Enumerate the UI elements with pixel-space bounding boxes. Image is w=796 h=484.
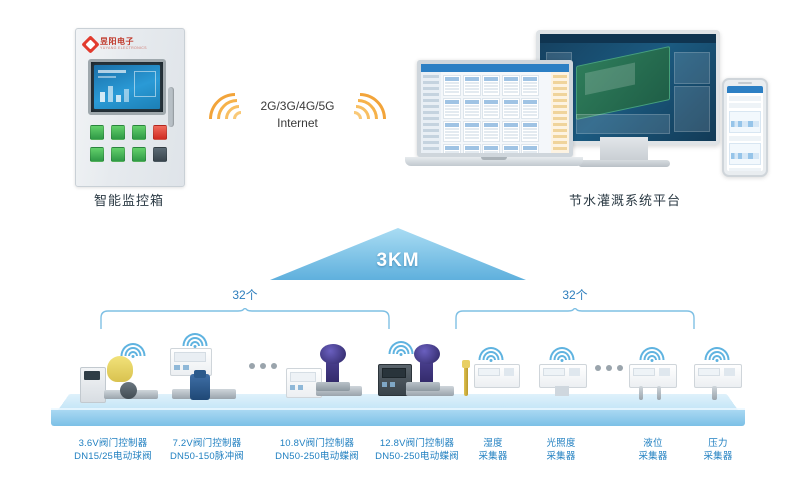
- controller-button: [390, 382, 395, 387]
- sensor-probe: [657, 386, 661, 400]
- caption-valve-controller-12-8v: 12.8V阀门控制器 DN50-250电动蝶阀: [358, 437, 476, 463]
- count-left: 32个: [223, 286, 267, 303]
- caption-line-1: 压力: [687, 437, 749, 450]
- collector-display: [698, 368, 720, 376]
- wifi-signal-icon: [704, 344, 730, 360]
- controller-button: [183, 365, 189, 370]
- collector-badge: [504, 368, 514, 376]
- indicator-led: [132, 125, 146, 140]
- valve-flange: [406, 382, 440, 391]
- ellipsis-left: [249, 363, 277, 369]
- butterfly-valve-handwheel: [320, 344, 346, 364]
- caption-humidity-collector: 湿度 采集器: [462, 437, 524, 463]
- caption-line-2: 采集器: [530, 450, 592, 463]
- device-valve-controller-10-8v[interactable]: [286, 336, 362, 402]
- device-valve-controller-7-2v[interactable]: [168, 330, 238, 402]
- count-right: 32个: [553, 286, 597, 303]
- controller-button: [382, 382, 387, 387]
- wifi-signal-icon: [182, 330, 208, 346]
- caption-line-1: 湿度: [462, 437, 524, 450]
- valve-flange: [316, 382, 350, 391]
- coverage-funnel: 3KM: [270, 228, 526, 280]
- sensor-probe: [712, 386, 717, 400]
- phone-speaker-icon: [738, 82, 752, 84]
- wifi-wave-right-icon: [352, 91, 394, 143]
- device-humidity-collector[interactable]: [462, 338, 522, 402]
- collector-badge: [724, 368, 735, 376]
- mobile-phone: [722, 78, 768, 177]
- wireless-link-group: 2G/3G/4G/5G Internet: [205, 85, 390, 155]
- caption-line-2: DN50-150脉冲阀: [152, 450, 262, 463]
- caption-valve-controller-7-2v: 7.2V阀门控制器 DN50-150脉冲阀: [152, 437, 262, 463]
- cabinet-hmi-screen: [88, 59, 166, 115]
- brand-mark-icon: [81, 35, 99, 53]
- caption-line-2: 采集器: [687, 450, 749, 463]
- caption-level-collector: 液位 采集器: [622, 437, 684, 463]
- caption-line-1: 液位: [622, 437, 684, 450]
- smart-control-cabinet: 昱阳电子 YUYANG ELECTRONICS: [75, 28, 185, 187]
- cabinet-indicator-row-1: [90, 125, 170, 139]
- cabinet-brand-logo: 昱阳电子 YUYANG ELECTRONICS: [84, 37, 146, 53]
- 3d-map-panel: [576, 46, 670, 120]
- collector-badge: [569, 368, 580, 376]
- device-pressure-collector[interactable]: [690, 338, 746, 402]
- caption-illuminance-collector: 光照度 采集器: [530, 437, 592, 463]
- laptop-dashboard: [421, 64, 569, 153]
- solar-panel: [107, 356, 133, 382]
- device-valve-controller-12-8v[interactable]: [378, 336, 454, 402]
- wifi-signal-icon: [478, 344, 504, 360]
- phone-dashboard: [727, 86, 763, 171]
- hmi-dashboard: [94, 65, 160, 109]
- laptop: [405, 60, 583, 170]
- caption-line-2: DN50-250电动蝶阀: [358, 450, 476, 463]
- sensor-probe: [639, 386, 643, 400]
- brace-left: [100, 308, 390, 330]
- device-illuminance-collector[interactable]: [535, 338, 591, 402]
- controller-button: [290, 385, 295, 390]
- indicator-led: [90, 147, 104, 162]
- monitor-stand: [600, 137, 648, 161]
- controller-display: [290, 372, 316, 382]
- cabinet-indicator-row-2: [90, 147, 170, 161]
- brand-subtitle: YUYANG ELECTRONICS: [100, 46, 147, 50]
- indicator-led: [90, 125, 104, 140]
- controller-display: [174, 352, 206, 362]
- indicator-led: [153, 125, 167, 140]
- caption-pressure-collector: 压力 采集器: [687, 437, 749, 463]
- collector-display: [633, 368, 655, 376]
- indicator-led: [153, 147, 167, 162]
- sensor-probe: [464, 366, 468, 396]
- laptop-screen: [417, 60, 573, 157]
- coverage-range-label: 3KM: [270, 250, 526, 272]
- collector-display: [478, 368, 500, 376]
- caption-line-1: 光照度: [530, 437, 592, 450]
- caption-line-1: 12.8V阀门控制器: [358, 437, 476, 450]
- wifi-wave-left-icon: [201, 91, 243, 143]
- collector-display: [543, 368, 565, 376]
- collector-badge: [659, 368, 670, 376]
- controller-display: [382, 368, 406, 378]
- caption-line-2: 采集器: [622, 450, 684, 463]
- controller-button: [298, 385, 303, 390]
- brand-name: 昱阳电子: [100, 37, 134, 46]
- controller-display: [84, 371, 100, 380]
- indicator-led: [111, 147, 125, 162]
- valve-actuator: [194, 370, 206, 378]
- indicator-led: [132, 147, 146, 162]
- collector-mount: [555, 386, 569, 396]
- platform-caption: 节水灌溉系统平台: [520, 190, 730, 209]
- cabinet-door-handle: [168, 87, 174, 127]
- ellipsis-right: [595, 365, 623, 371]
- wifi-signal-icon: [639, 344, 665, 360]
- device-valve-controller-3-6v[interactable]: [80, 340, 158, 400]
- butterfly-valve-handwheel: [414, 344, 440, 364]
- wifi-signal-icon: [388, 338, 414, 354]
- caption-line-1: 7.2V阀门控制器: [152, 437, 262, 450]
- sensor-head: [462, 360, 470, 368]
- wifi-signal-icon: [549, 344, 575, 360]
- brace-right: [455, 308, 695, 330]
- cabinet-caption: 智能监控箱: [55, 190, 203, 209]
- wifi-signal-icon: [120, 340, 146, 356]
- indicator-led: [111, 125, 125, 140]
- device-level-collector[interactable]: [625, 338, 681, 402]
- caption-line-2: 采集器: [462, 450, 524, 463]
- ball-valve: [120, 382, 137, 399]
- diagram-canvas: 昱阳电子 YUYANG ELECTRONICS 智能监控箱: [0, 0, 796, 484]
- monitor-base: [578, 160, 670, 167]
- laptop-trackpad-notch: [481, 157, 507, 160]
- controller-button: [174, 365, 180, 370]
